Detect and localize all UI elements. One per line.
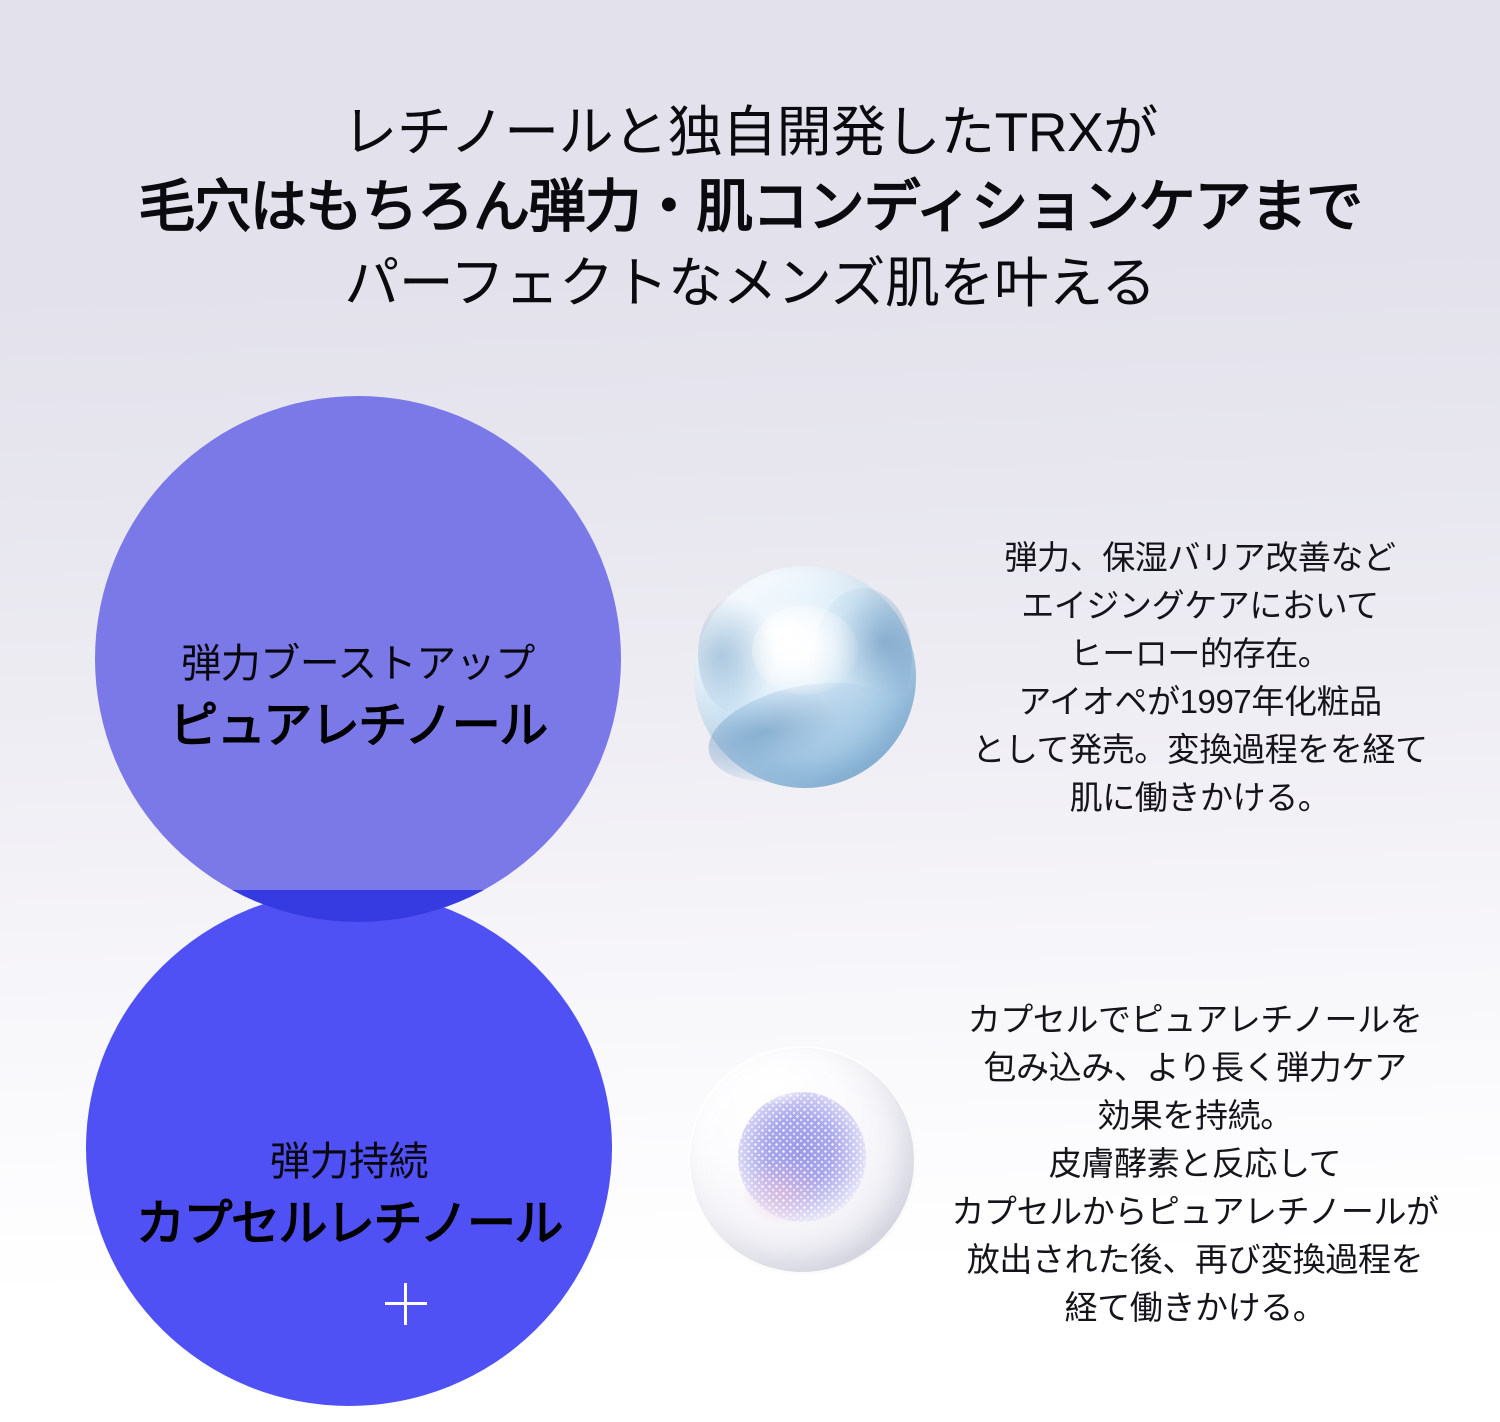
desc-capsule-line-3: 効果を持続。 bbox=[935, 1092, 1455, 1140]
circle-pure-retinol-title: ピュアレチノール bbox=[109, 694, 607, 758]
circle-capsule-retinol: 弾力持続 カプセルレチノール bbox=[86, 890, 612, 1406]
desc-retinol-line-1: 弾力、保湿バリア改善など bbox=[955, 534, 1445, 582]
desc-capsule-line-4: 皮膚酵素と反応して bbox=[935, 1140, 1455, 1188]
water-swirl-left bbox=[698, 597, 773, 712]
headline-line-3: パーフェクトなメンズ肌を叶える bbox=[0, 246, 1500, 320]
circle-pure-retinol-subtitle: 弾力ブーストアップ bbox=[109, 636, 607, 692]
headline-line-1: レチノールと独自開発したTRXが bbox=[0, 96, 1500, 168]
description-capsule-retinol: カプセルでピュアレチノールを 包み込み、より長く弾力ケア 効果を持続。 皮膚酵素… bbox=[935, 996, 1455, 1332]
water-specular-highlight bbox=[761, 615, 810, 646]
desc-retinol-line-4: アイオペが1997年化粧品 bbox=[955, 678, 1445, 726]
circle-pure-retinol: 弾力ブーストアップ ピュアレチノール bbox=[95, 396, 621, 922]
water-droplet-sphere-icon bbox=[694, 566, 916, 788]
infographic-page: レチノールと独自開発したTRXが 毛穴はもちろん弾力・肌コンディションケアまで … bbox=[0, 0, 1500, 1422]
desc-capsule-line-7: 経て働きかける。 bbox=[935, 1284, 1455, 1332]
desc-retinol-line-5: として発売。変換過程をを経て bbox=[955, 726, 1445, 774]
water-highlight-body bbox=[752, 606, 859, 695]
water-swirl-bottom bbox=[700, 667, 910, 799]
water-swirl-right bbox=[814, 588, 912, 726]
desc-capsule-line-1: カプセルでピュアレチノールを bbox=[935, 996, 1455, 1044]
desc-capsule-line-2: 包み込み、より長く弾力ケア bbox=[935, 1044, 1455, 1092]
plus-icon bbox=[385, 1283, 427, 1325]
desc-capsule-line-5: カプセルからピュアレチノールが bbox=[935, 1188, 1455, 1236]
desc-retinol-line-3: ヒーロー的存在。 bbox=[955, 630, 1445, 678]
desc-retinol-line-6: 肌に働きかける。 bbox=[955, 774, 1445, 822]
circle-capsule-retinol-title: カプセルレチノール bbox=[100, 1192, 598, 1256]
circle-capsule-retinol-subtitle: 弾力持続 bbox=[100, 1134, 598, 1190]
desc-capsule-line-6: 放出された後、再び変換過程を bbox=[935, 1236, 1455, 1284]
desc-retinol-line-2: エイジングケアにおいて bbox=[955, 582, 1445, 630]
description-pure-retinol: 弾力、保湿バリア改善など エイジングケアにおいて ヒーロー的存在。 アイオペが1… bbox=[955, 534, 1445, 822]
circle-capsule-retinol-text: 弾力持続 カプセルレチノール bbox=[86, 1134, 612, 1256]
headline-block: レチノールと独自開発したTRXが 毛穴はもちろん弾力・肌コンディションケアまで … bbox=[0, 96, 1500, 320]
capsule-sphere-icon bbox=[688, 1046, 916, 1274]
capsule-rim bbox=[688, 1046, 916, 1274]
venn-diagram: 弾力持続 カプセルレチノール 弾力ブーストアップ ピュアレチノール bbox=[82, 396, 622, 1406]
headline-line-2: 毛穴はもちろん弾力・肌コンディションケアまで bbox=[0, 168, 1500, 246]
circle-pure-retinol-text: 弾力ブーストアップ ピュアレチノール bbox=[95, 636, 621, 758]
